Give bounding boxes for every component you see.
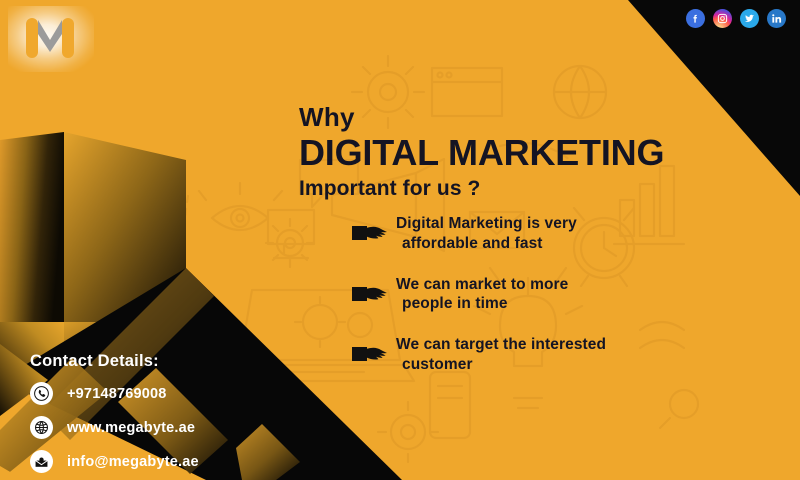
megabyte-m-icon [24, 16, 76, 60]
globe-icon [30, 416, 53, 439]
contact-phone-value: +97148769008 [67, 386, 167, 402]
contact-details: Contact Details: +97148769008 www.megaby… [30, 352, 199, 480]
twitter-icon[interactable] [740, 9, 759, 28]
pointing-hand-icon [352, 344, 388, 369]
list-item-text: We can market to more people in time [388, 275, 568, 315]
list-item-line2: affordable and fast [396, 234, 577, 254]
list-item-line1: We can market to more [396, 276, 568, 293]
social-links[interactable] [686, 9, 786, 28]
list-item-line1: We can target the interested [396, 336, 606, 353]
contact-title: Contact Details: [30, 352, 199, 371]
benefits-list: Digital Marketing is very affordable and… [352, 214, 682, 396]
contact-row-phone[interactable]: +97148769008 [30, 382, 199, 405]
headline-block: Why DIGITAL MARKETING Important for us ? [299, 104, 664, 199]
list-item-line1: Digital Marketing is very [396, 215, 577, 232]
phone-icon [30, 382, 53, 405]
contact-row-website[interactable]: www.megabyte.ae [30, 416, 199, 439]
poster-canvas: Why DIGITAL MARKETING Important for us ?… [0, 0, 800, 480]
list-item: We can market to more people in time [352, 275, 682, 315]
instagram-icon[interactable] [713, 9, 732, 28]
list-item-text: We can target the interested customer [388, 335, 606, 375]
list-item-text: Digital Marketing is very affordable and… [388, 214, 577, 254]
list-item: Digital Marketing is very affordable and… [352, 214, 682, 254]
facebook-icon[interactable] [686, 9, 705, 28]
headline-title: DIGITAL MARKETING [299, 134, 664, 173]
list-item-line2: customer [396, 355, 606, 375]
contact-email-value: info@megabyte.ae [67, 454, 199, 470]
brand-logo[interactable] [8, 6, 94, 72]
email-icon [30, 450, 53, 473]
contact-row-email[interactable]: info@megabyte.ae [30, 450, 199, 473]
headline-eyebrow: Why [299, 104, 664, 130]
list-item: We can target the interested customer [352, 335, 682, 375]
list-item-line2: people in time [396, 294, 568, 314]
headline-subtitle: Important for us ? [299, 178, 664, 199]
pointing-hand-icon [352, 284, 388, 309]
pointing-hand-icon [352, 223, 388, 248]
contact-website-value: www.megabyte.ae [67, 420, 195, 436]
linkedin-icon[interactable] [767, 9, 786, 28]
